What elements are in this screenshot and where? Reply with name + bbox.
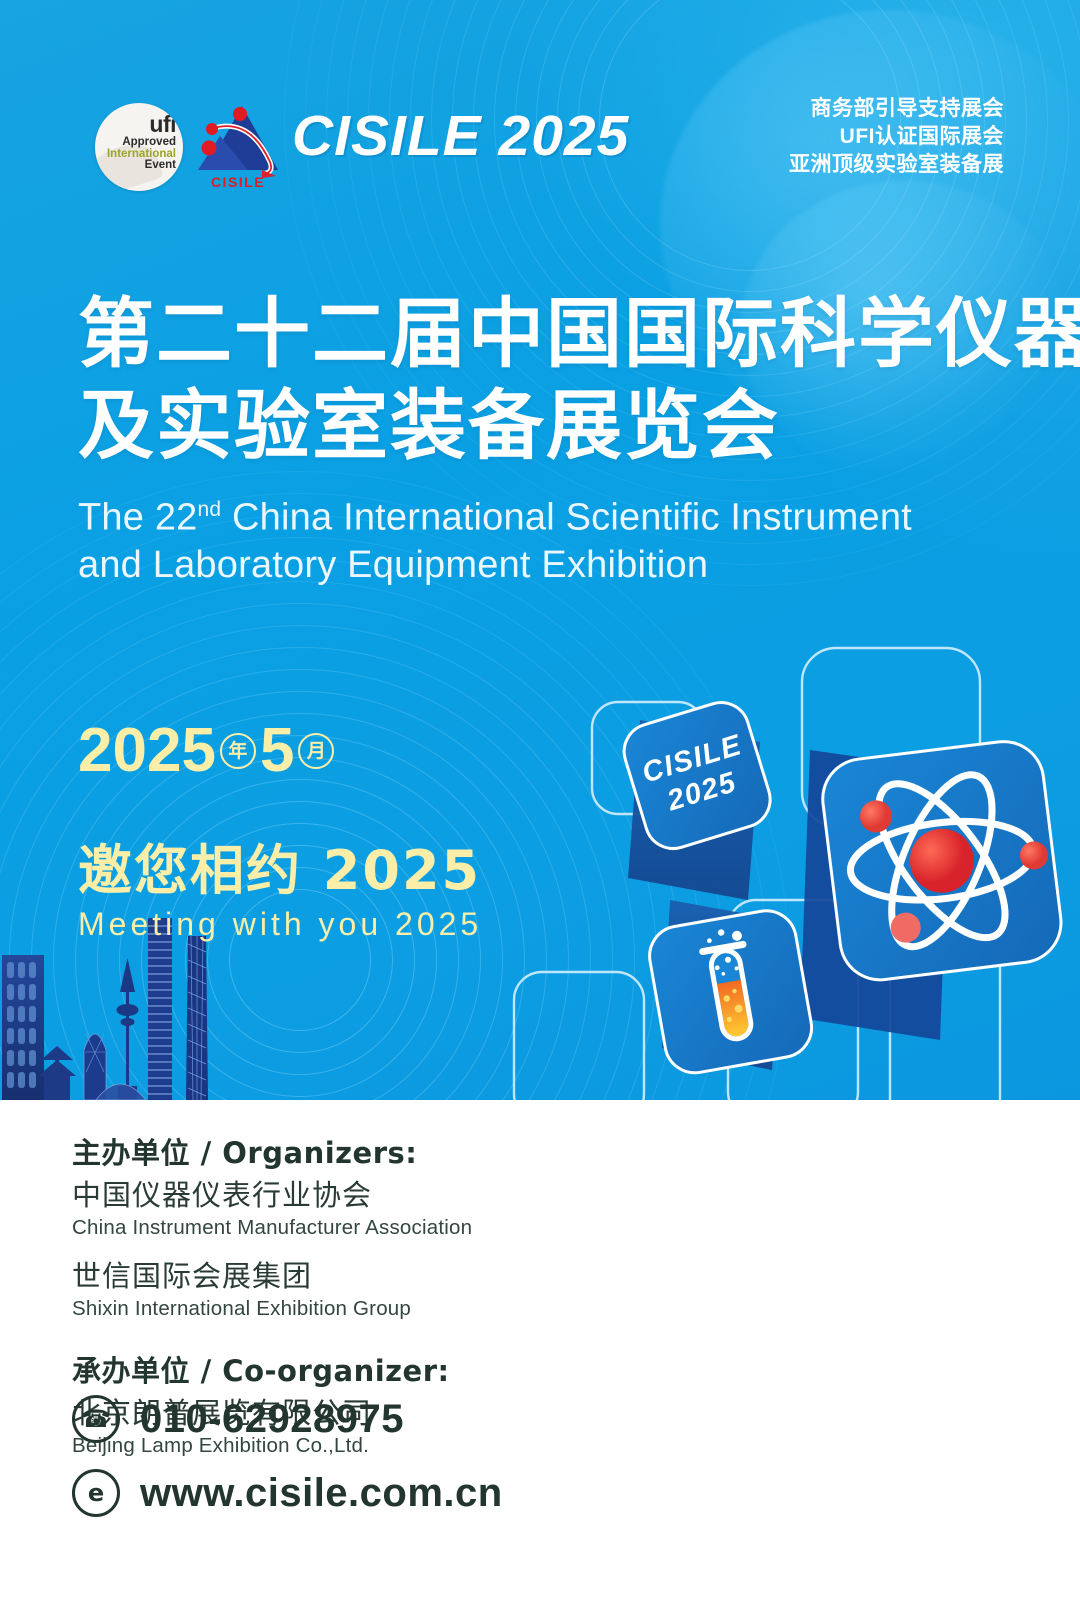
main-title-block: 第二十二届中国国际科学仪器 及实验室装备展览会 The 22nd China I…	[78, 288, 1028, 589]
date-year: 2025	[78, 718, 216, 784]
cisile-logo-icon: CISILE	[192, 96, 288, 190]
title-en-line1-rest: China International Scientific Instrumen…	[221, 497, 912, 539]
header-tag-3: 亚洲顶级实验室装备展	[789, 151, 1004, 179]
header-tag-1: 商务部引导支持展会	[789, 95, 1004, 123]
contact-website[interactable]: www.cisile.com.cn	[140, 1471, 503, 1516]
svg-text:CISILE: CISILE	[211, 174, 265, 190]
email-icon: e	[72, 1469, 120, 1517]
contact-phone-number[interactable]: 010-62928975	[140, 1397, 404, 1442]
organizer-2-cn: 世信国际会展集团	[72, 1257, 472, 1295]
date-month-unit: 月	[298, 733, 334, 769]
poster-header: ufi Approved International Event CISILE	[0, 0, 1080, 210]
title-cn-line2: 及实验室装备展览会	[78, 380, 1028, 472]
organizer-2-en: Shixin International Exhibition Group	[72, 1295, 472, 1322]
ufi-approved-label: Approved	[107, 137, 176, 149]
phone-icon: ☎	[72, 1395, 120, 1443]
event-date-block: 2025 年 5 月	[78, 718, 338, 784]
contact-phone-row: ☎ 010-62928975	[72, 1395, 503, 1443]
header-tag-2: UFI认证国际展会	[789, 123, 1004, 151]
organizer-1-cn: 中国仪器仪表行业协会	[72, 1176, 472, 1214]
brand-title: CISILE 2025	[292, 103, 629, 169]
contact-block: ☎ 010-62928975 e www.cisile.com.cn	[72, 1395, 503, 1543]
slogan-en: Meeting with you 2025	[78, 906, 482, 943]
co-organizer-heading: 承办单位 / Co-organizer:	[72, 1348, 472, 1390]
title-en: The 22nd China International Scientific …	[78, 486, 1028, 589]
blue-hero-panel: CISILE 2025	[0, 0, 1080, 1100]
date-month: 5	[260, 718, 294, 784]
slogan-cn: 邀您相约 2025	[78, 840, 482, 902]
slogan-block: 邀您相约 2025 Meeting with you 2025	[78, 840, 482, 943]
title-en-prefix: The 22	[78, 497, 198, 539]
poster-root: CISILE 2025	[0, 0, 1080, 1620]
title-en-ordinal: nd	[198, 498, 222, 521]
info-panel: 主办单位 / Organizers: 中国仪器仪表行业协会 China Inst…	[0, 1100, 1080, 1620]
organizer-1-en: China Instrument Manufacturer Associatio…	[72, 1214, 472, 1241]
ufi-approved-badge: ufi Approved International Event	[95, 103, 183, 191]
title-en-line1: The 22nd China International Scientific …	[78, 486, 1028, 542]
science-illustration: CISILE 2025	[480, 600, 1080, 1100]
header-tagline-group: 商务部引导支持展会 UFI认证国际展会 亚洲顶级实验室装备展	[789, 95, 1004, 179]
ufi-label: ufi	[107, 113, 176, 136]
ufi-event-label: Event	[107, 160, 176, 172]
title-en-line2: and Laboratory Equipment Exhibition	[78, 542, 1028, 589]
title-cn-line1: 第二十二届中国国际科学仪器	[78, 288, 1028, 380]
date-year-unit: 年	[220, 733, 256, 769]
organizers-heading: 主办单位 / Organizers:	[72, 1130, 472, 1172]
contact-website-row: e www.cisile.com.cn	[72, 1469, 503, 1517]
